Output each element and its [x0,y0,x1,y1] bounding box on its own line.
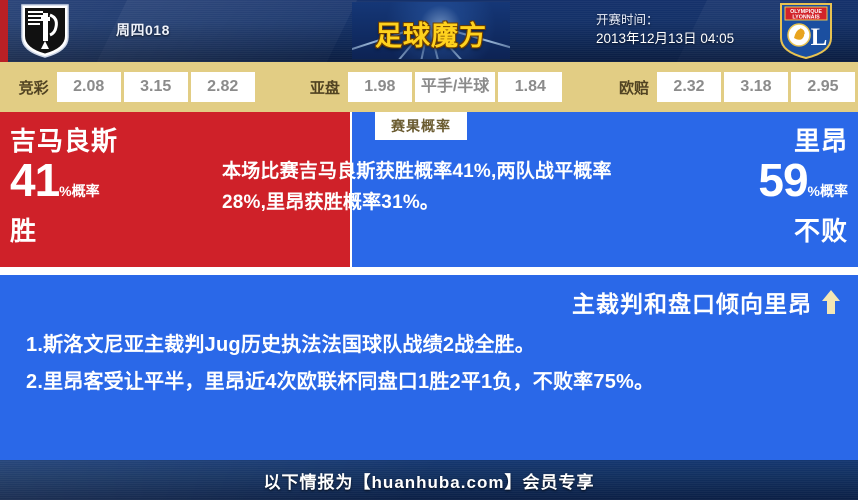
probability-tab-label[interactable]: 赛果概率 [375,112,467,140]
odds-group-label: 竞彩 [11,77,57,98]
probability-description: 本场比赛吉马良斯获胜概率41%,两队战平概率28%,里昂获胜概率31%。 [222,156,636,218]
list-item: 1.斯洛文尼亚主裁判Jug历史执法法国球队战绩2战全胜。 [26,327,838,364]
home-probability-value: 41 [10,154,59,206]
home-probability-summary: 吉马良斯 41%概率 胜 [10,126,185,246]
list-item: 2.里昂客受让平半，里昂近4次欧联杯同盘口1胜2平1负，不败率75%。 [26,364,838,401]
odds-group-asian: 亚盘 1.98 平手/半球 1.84 [302,72,565,102]
arrow-up-icon [822,290,840,314]
away-probability-unit: %概率 [808,183,848,199]
footer-membership-note: 以下情报为【huanhuba.com】会员专享 [264,468,595,493]
match-round-label: 周四018 [116,20,170,40]
conclusion-headline: 主裁判和盘口倾向里昂 [572,285,812,319]
euro-odds-home[interactable]: 2.32 [657,72,721,102]
odds-group-label: 欧赔 [611,77,657,98]
asian-odds-away[interactable]: 1.84 [498,72,562,102]
header-accent-bar [0,0,8,62]
away-probability-value: 59 [758,154,807,206]
site-brand-logo[interactable]: 足球魔方 [352,2,510,59]
brand-name: 足球魔方 [352,14,510,53]
olympique-lyonnais-crest: OLYMPIQUE LYONNAIS L [778,2,834,60]
odds-value-draw[interactable]: 3.15 [124,72,188,102]
odds-bar: 竞彩 2.08 3.15 2.82 亚盘 1.98 平手/半球 1.84 欧赔 … [0,62,858,112]
asian-handicap-line[interactable]: 平手/半球 [415,72,495,102]
odds-value-home[interactable]: 2.08 [57,72,121,102]
away-probability-summary: 里昂 59%概率 不败 [673,126,848,246]
kickoff-time: 2013年12月13日 04:05 [596,29,734,48]
section-gap [0,267,858,275]
away-probability-row: 59%概率 [673,156,848,216]
kickoff-label: 开赛时间： [596,11,734,29]
probability-band: 吉马良斯 41%概率 胜 赛果概率 本场比赛吉马良斯获胜概率41%,两队战平概率… [0,112,858,267]
conclusion-headline-wrap: 主裁判和盘口倾向里昂 [572,285,840,319]
asian-odds-home[interactable]: 1.98 [348,72,412,102]
away-result-label: 不败 [673,216,848,246]
page-header: 周四018 足球魔方 开赛时间： 2013年12月13日 04:05 OLYMP… [0,0,858,62]
kickoff-info: 开赛时间： 2013年12月13日 04:05 [596,11,734,48]
away-team-name: 里昂 [673,126,848,156]
conclusion-list: 1.斯洛文尼亚主裁判Jug历史执法法国球队战绩2战全胜。 2.里昂客受让平半，里… [26,327,838,401]
odds-group-label: 亚盘 [302,77,348,98]
svg-text:LYONNAIS: LYONNAIS [792,15,820,21]
odds-group-euro: 欧赔 2.32 3.18 2.95 [611,72,858,102]
odds-group-jingcai: 竞彩 2.08 3.15 2.82 [11,72,258,102]
euro-odds-away[interactable]: 2.95 [791,72,855,102]
home-probability-unit: %概率 [59,183,99,199]
page-footer: 以下情报为【huanhuba.com】会员专享 [0,460,858,500]
home-team-name: 吉马良斯 [10,126,185,156]
home-result-label: 胜 [10,216,185,246]
conclusion-band: 主裁判和盘口倾向里昂 1.斯洛文尼亚主裁判Jug历史执法法国球队战绩2战全胜。 … [0,275,858,460]
vitoria-guimaraes-crest [20,3,70,59]
match-preview-page: 周四018 足球魔方 开赛时间： 2013年12月13日 04:05 OLYMP… [0,0,858,498]
odds-value-away[interactable]: 2.82 [191,72,255,102]
home-probability-row: 41%概率 [10,156,185,216]
svg-text:L: L [811,24,828,51]
euro-odds-draw[interactable]: 3.18 [724,72,788,102]
